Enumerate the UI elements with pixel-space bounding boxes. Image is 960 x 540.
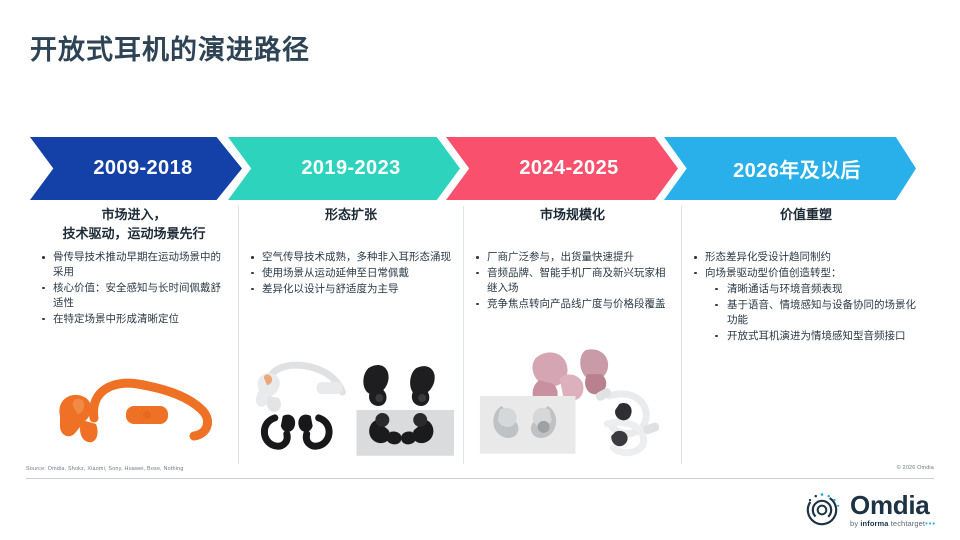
timeline-phase-4[interactable]: 2026年及以后 — [664, 137, 916, 200]
timeline-banner: 2009-2018 2019-2023 2024-2025 2026年及以后 — [30, 137, 930, 200]
phase-column-2-bullets: 空气传导技术成熟，多种非入耳形态涌现 使用场景从运动延伸至日常佩戴 差异化以设计… — [249, 250, 453, 297]
list-item: 清晰通话与环境音频表现 — [705, 282, 920, 297]
list-item: 厂商广泛参与，出货量快速提升 — [474, 250, 671, 265]
omdia-logo-wordmark: Omdia — [850, 492, 936, 518]
phase-column-4-sub-bullets: 清晰通话与环境音频表现 基于语音、情境感知与设备协同的场景化功能 开放式耳机演进… — [705, 282, 920, 344]
omdia-logo: Omdia by informa techtarget••• — [802, 490, 936, 530]
list-item: 使用场景从运动延伸至日常佩戴 — [249, 266, 453, 281]
phase-column-2: 形态扩张 空气传导技术成熟，多种非入耳形态涌现 使用场景从运动延伸至日常佩戴 差… — [238, 206, 463, 464]
tagline-dots: ••• — [925, 519, 936, 528]
timeline-phase-2[interactable]: 2019-2023 — [228, 137, 460, 200]
phase-column-1-bullets: 骨传导技术推动早期在运动场景中的采用 核心价值：安全感知与长时间佩戴舒适性 在特… — [40, 250, 228, 327]
timeline-phase-3-label: 2024-2025 — [505, 157, 618, 180]
tagline-informa: informa — [860, 519, 888, 528]
omdia-logo-tagline: by informa techtarget••• — [850, 520, 936, 528]
copyright-note: © 2026 Omdia — [897, 465, 934, 471]
phase-column-3-heading: 市场规模化 — [474, 206, 671, 244]
phase-column-3-bullets: 厂商广泛参与，出货量快速提升 音频品牌、智能手机厂商及新兴玩家相继入场 竞争焦点… — [474, 250, 671, 312]
list-item: 在特定场景中形成清晰定位 — [40, 312, 228, 327]
footer-divider — [26, 478, 934, 479]
list-item: 空气传导技术成熟，多种非入耳形态涌现 — [249, 250, 453, 265]
list-item: 差异化以设计与舒适度为主导 — [249, 282, 453, 297]
list-item-label: 向场景驱动型价值创造转型： — [705, 267, 842, 279]
phase-column-1-heading-line1: 市场进入， — [40, 206, 228, 225]
list-item: 竞争焦点转向产品线广度与价格段覆盖 — [474, 297, 671, 312]
phase-columns: 市场进入， 技术驱动，运动场景先行 骨传导技术推动早期在运动场景中的采用 核心价… — [30, 206, 930, 464]
phase-column-4-bullets: 形态差异化受设计趋同制约 向场景驱动型价值创造转型： 清晰通话与环境音频表现 基… — [692, 250, 920, 343]
timeline-phase-1[interactable]: 2009-2018 — [30, 137, 242, 200]
clip-on-earbuds-collection-image — [464, 334, 681, 458]
phase-column-1-heading: 市场进入， 技术驱动，运动场景先行 — [40, 206, 228, 244]
timeline-phase-2-label: 2019-2023 — [287, 157, 400, 180]
timeline-phase-1-label: 2009-2018 — [79, 157, 192, 180]
phase-column-3: 市场规模化 厂商广泛参与，出货量快速提升 音频品牌、智能手机厂商及新兴玩家相继入… — [463, 206, 681, 464]
list-item: 骨传导技术推动早期在运动场景中的采用 — [40, 250, 228, 280]
phase-column-1: 市场进入， 技术驱动，运动场景先行 骨传导技术推动早期在运动场景中的采用 核心价… — [30, 206, 238, 464]
phase-column-4: 价值重塑 形态差异化受设计趋同制约 向场景驱动型价值创造转型： 清晰通话与环境音… — [681, 206, 930, 464]
list-item: 音频品牌、智能手机厂商及新兴玩家相继入场 — [474, 266, 671, 296]
page-title: 开放式耳机的演进路径 — [30, 28, 310, 67]
orange-bone-conduction-headphones-image — [30, 346, 238, 458]
source-note: Source: Omdia, Shokz, Xiaomi, Sony, Huaw… — [26, 466, 184, 472]
list-item: 核心价值：安全感知与长时间佩戴舒适性 — [40, 281, 228, 311]
timeline-phase-3[interactable]: 2024-2025 — [446, 137, 678, 200]
list-item: 向场景驱动型价值创造转型： 清晰通话与环境音频表现 基于语音、情境感知与设备协同… — [692, 266, 920, 344]
omdia-swirl-icon — [802, 490, 842, 530]
phase-column-2-heading: 形态扩张 — [249, 206, 453, 244]
open-ear-earbuds-grid-image — [239, 346, 463, 458]
phase-column-1-heading-line2: 技术驱动，运动场景先行 — [40, 225, 228, 244]
phase-column-4-heading: 价值重塑 — [692, 206, 920, 244]
timeline-phase-4-label: 2026年及以后 — [719, 154, 861, 183]
tagline-rest: techtarget — [889, 519, 926, 528]
list-item: 形态差异化受设计趋同制约 — [692, 250, 920, 265]
tagline-by: by — [850, 519, 860, 528]
list-item: 基于语音、情境感知与设备协同的场景化功能 — [705, 298, 920, 328]
list-item: 开放式耳机演进为情境感知型音频接口 — [705, 329, 920, 344]
